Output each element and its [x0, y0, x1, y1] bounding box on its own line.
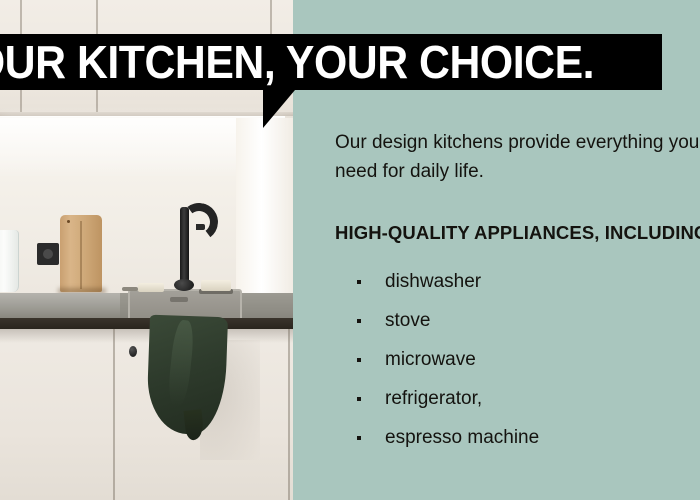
appliance-label: stove [385, 310, 430, 331]
list-item: espresso machine [355, 418, 539, 457]
cabinet-knob [129, 346, 137, 357]
faucet-body [180, 207, 189, 289]
wall-corner [236, 118, 293, 294]
wood-grain [80, 221, 82, 289]
glass-carafe [0, 230, 19, 292]
bullet-square-icon [357, 319, 361, 323]
speech-bubble-tail-icon [263, 90, 295, 128]
countertop-utensil [122, 287, 138, 291]
bullet-square-icon [357, 397, 361, 401]
bullet-square-icon [357, 280, 361, 284]
appliance-label: dishwasher [385, 271, 481, 292]
faucet-spout [196, 224, 205, 230]
list-item: refrigerator, [355, 379, 539, 418]
bullet-square-icon [357, 358, 361, 362]
cabinet-seam [113, 329, 115, 500]
cabinet-seam [288, 329, 290, 500]
soap-bar [138, 283, 164, 292]
headline-bar: OUR KITCHEN, YOUR CHOICE. [0, 34, 662, 90]
list-item: dishwasher [355, 262, 539, 301]
power-socket [37, 243, 59, 265]
appliance-label: refrigerator, [385, 388, 482, 409]
section-heading: HIGH-QUALITY APPLIANCES, INCLUDING: [335, 222, 700, 244]
appliance-list: dishwasher stove microwave refrigerator,… [355, 262, 539, 457]
page-title: OUR KITCHEN, YOUR CHOICE. [0, 34, 614, 90]
list-item: stove [355, 301, 539, 340]
appliance-label: microwave [385, 349, 476, 370]
soap-bar [201, 280, 231, 291]
bullet-square-icon [357, 436, 361, 440]
body-line-1: Our design kitchens provide everything y… [335, 128, 700, 157]
countertop-front-edge [0, 318, 293, 329]
board-hang-hole [67, 220, 70, 223]
appliance-label: espresso machine [385, 427, 539, 448]
slide-canvas: Our design kitchens provide everything y… [0, 0, 700, 500]
body-copy: Our design kitchens provide everything y… [335, 128, 700, 186]
faucet-base [174, 279, 194, 291]
body-line-2: need for daily life. [335, 157, 700, 186]
list-item: microwave [355, 340, 539, 379]
countertop-reflection [0, 293, 120, 319]
sink-drain-mark [170, 297, 188, 302]
cutting-board [60, 215, 102, 292]
